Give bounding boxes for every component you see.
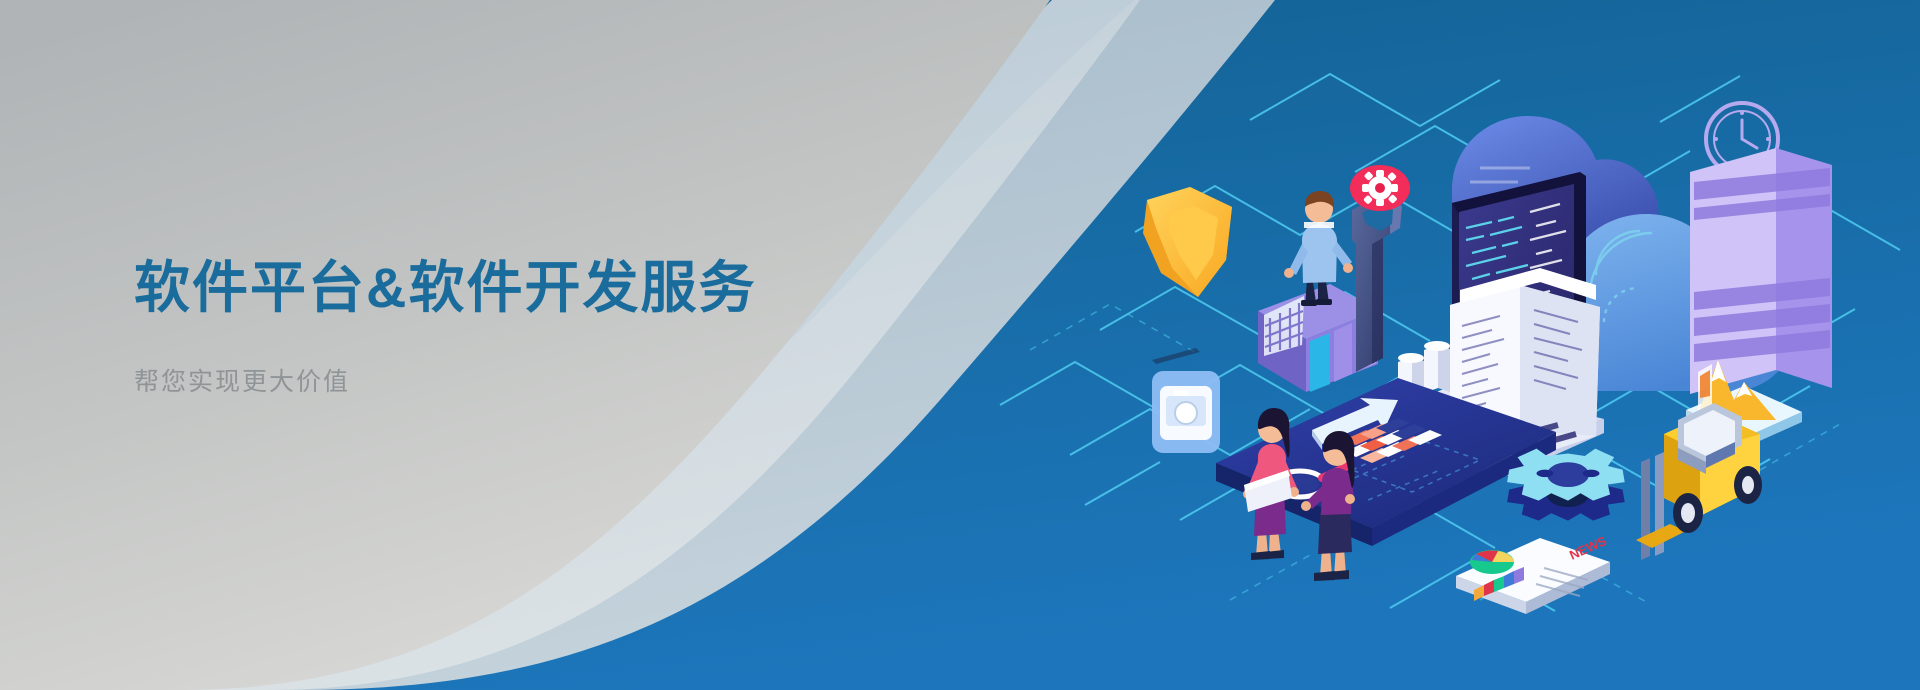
hero-banner: NEWS 软件平台&软件开发服务 帮您实现 bbox=[0, 0, 1920, 690]
page-subtitle: 帮您实现更大价值 bbox=[134, 321, 894, 397]
shield-icon bbox=[1143, 187, 1232, 297]
page-title: 软件平台&软件开发服务 bbox=[134, 255, 894, 321]
news-card: NEWS bbox=[1456, 533, 1610, 614]
camera-icon bbox=[1152, 348, 1220, 453]
pie-chart bbox=[1470, 550, 1514, 574]
forklift-icon bbox=[1636, 403, 1762, 560]
webpage-panel bbox=[1690, 0, 1832, 394]
hero-copy: 软件平台&软件开发服务 帮您实现更大价值 bbox=[134, 255, 894, 397]
engineer-figure bbox=[1284, 191, 1353, 306]
gear-icon bbox=[1507, 449, 1625, 521]
gear-badge-icon bbox=[1350, 165, 1410, 211]
wrench-icon bbox=[1352, 194, 1402, 372]
